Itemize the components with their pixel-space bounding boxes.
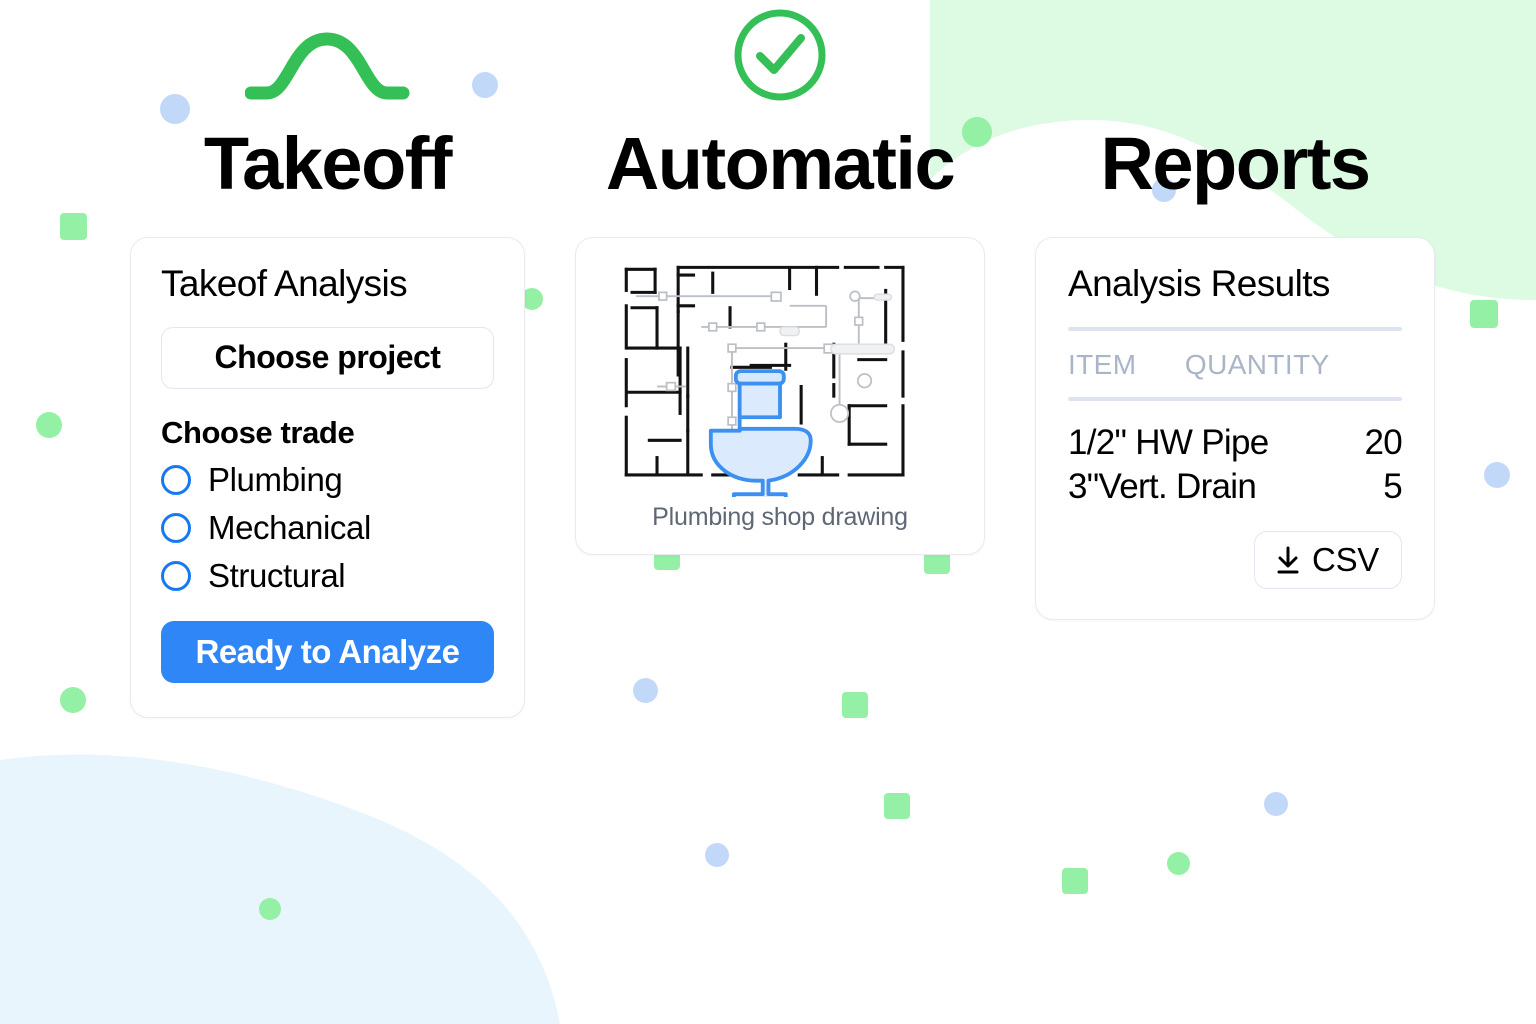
radio-label: Structural: [208, 557, 345, 595]
export-row: CSV: [1068, 531, 1402, 589]
takeoff-card-heading: Takeof Analysis: [161, 264, 494, 305]
plan-caption: Plumbing shop drawing: [590, 497, 970, 544]
column-title-reports: Reports: [1035, 127, 1435, 201]
download-csv-button[interactable]: CSV: [1254, 531, 1402, 589]
divider-below-headers: [1068, 397, 1402, 401]
cell-quantity: 5: [1349, 465, 1402, 509]
takeoff-card: Takeof Analysis Choose project Choose tr…: [130, 237, 525, 718]
column-title-takeoff: Takeoff: [130, 127, 525, 201]
bell-curve-icon-wrap: [130, 0, 525, 105]
column-reports: Reports Analysis Results ITEM QUANTITY 1…: [1035, 0, 1435, 620]
radio-option-structural[interactable]: Structural: [161, 557, 494, 595]
column-title-automatic: Automatic: [575, 127, 985, 201]
radio-option-mechanical[interactable]: Mechanical: [161, 509, 494, 547]
radio-label: Mechanical: [208, 509, 371, 547]
radio-label: Plumbing: [208, 461, 342, 499]
radio-icon: [161, 465, 191, 495]
radio-option-plumbing[interactable]: Plumbing: [161, 461, 494, 499]
bell-curve-icon: [245, 27, 410, 105]
reports-card-heading: Analysis Results: [1068, 264, 1402, 305]
column-header-quantity: QUANTITY: [1167, 349, 1402, 387]
table-row: 1/2" HW Pipe 20: [1068, 421, 1402, 465]
plumbing-floor-plan[interactable]: [590, 252, 970, 497]
cell-item: 1/2" HW Pipe: [1068, 421, 1349, 465]
reports-icon-spacer: [1035, 0, 1435, 105]
radio-icon: [161, 513, 191, 543]
results-body-table: 1/2" HW Pipe 20 3"Vert. Drain 5: [1068, 421, 1402, 509]
column-header-item: ITEM: [1068, 349, 1167, 387]
project-select-value: Choose project: [215, 339, 441, 376]
cell-item: 3"Vert. Drain: [1068, 465, 1349, 509]
check-circle-icon: [730, 5, 830, 105]
download-icon: [1273, 544, 1303, 576]
table-row: 3"Vert. Drain 5: [1068, 465, 1402, 509]
radio-icon: [161, 561, 191, 591]
feature-stage: Takeoff Takeof Analysis Choose project C…: [0, 0, 1536, 1024]
divider-top: [1068, 327, 1402, 331]
trade-label: Choose trade: [161, 415, 494, 451]
table-header-row: ITEM QUANTITY: [1068, 349, 1402, 387]
csv-button-label: CSV: [1312, 541, 1379, 579]
ready-to-analyze-button[interactable]: Ready to Analyze: [161, 621, 494, 683]
column-automatic: Automatic: [575, 0, 985, 555]
project-select[interactable]: Choose project: [161, 327, 494, 389]
reports-card: Analysis Results ITEM QUANTITY 1/2" HW P…: [1035, 237, 1435, 620]
cell-quantity: 20: [1349, 421, 1402, 465]
check-circle-icon-wrap: [575, 0, 985, 105]
column-takeoff: Takeoff Takeof Analysis Choose project C…: [130, 0, 525, 718]
results-table: ITEM QUANTITY: [1068, 349, 1402, 387]
automatic-card: Plumbing shop drawing: [575, 237, 985, 555]
